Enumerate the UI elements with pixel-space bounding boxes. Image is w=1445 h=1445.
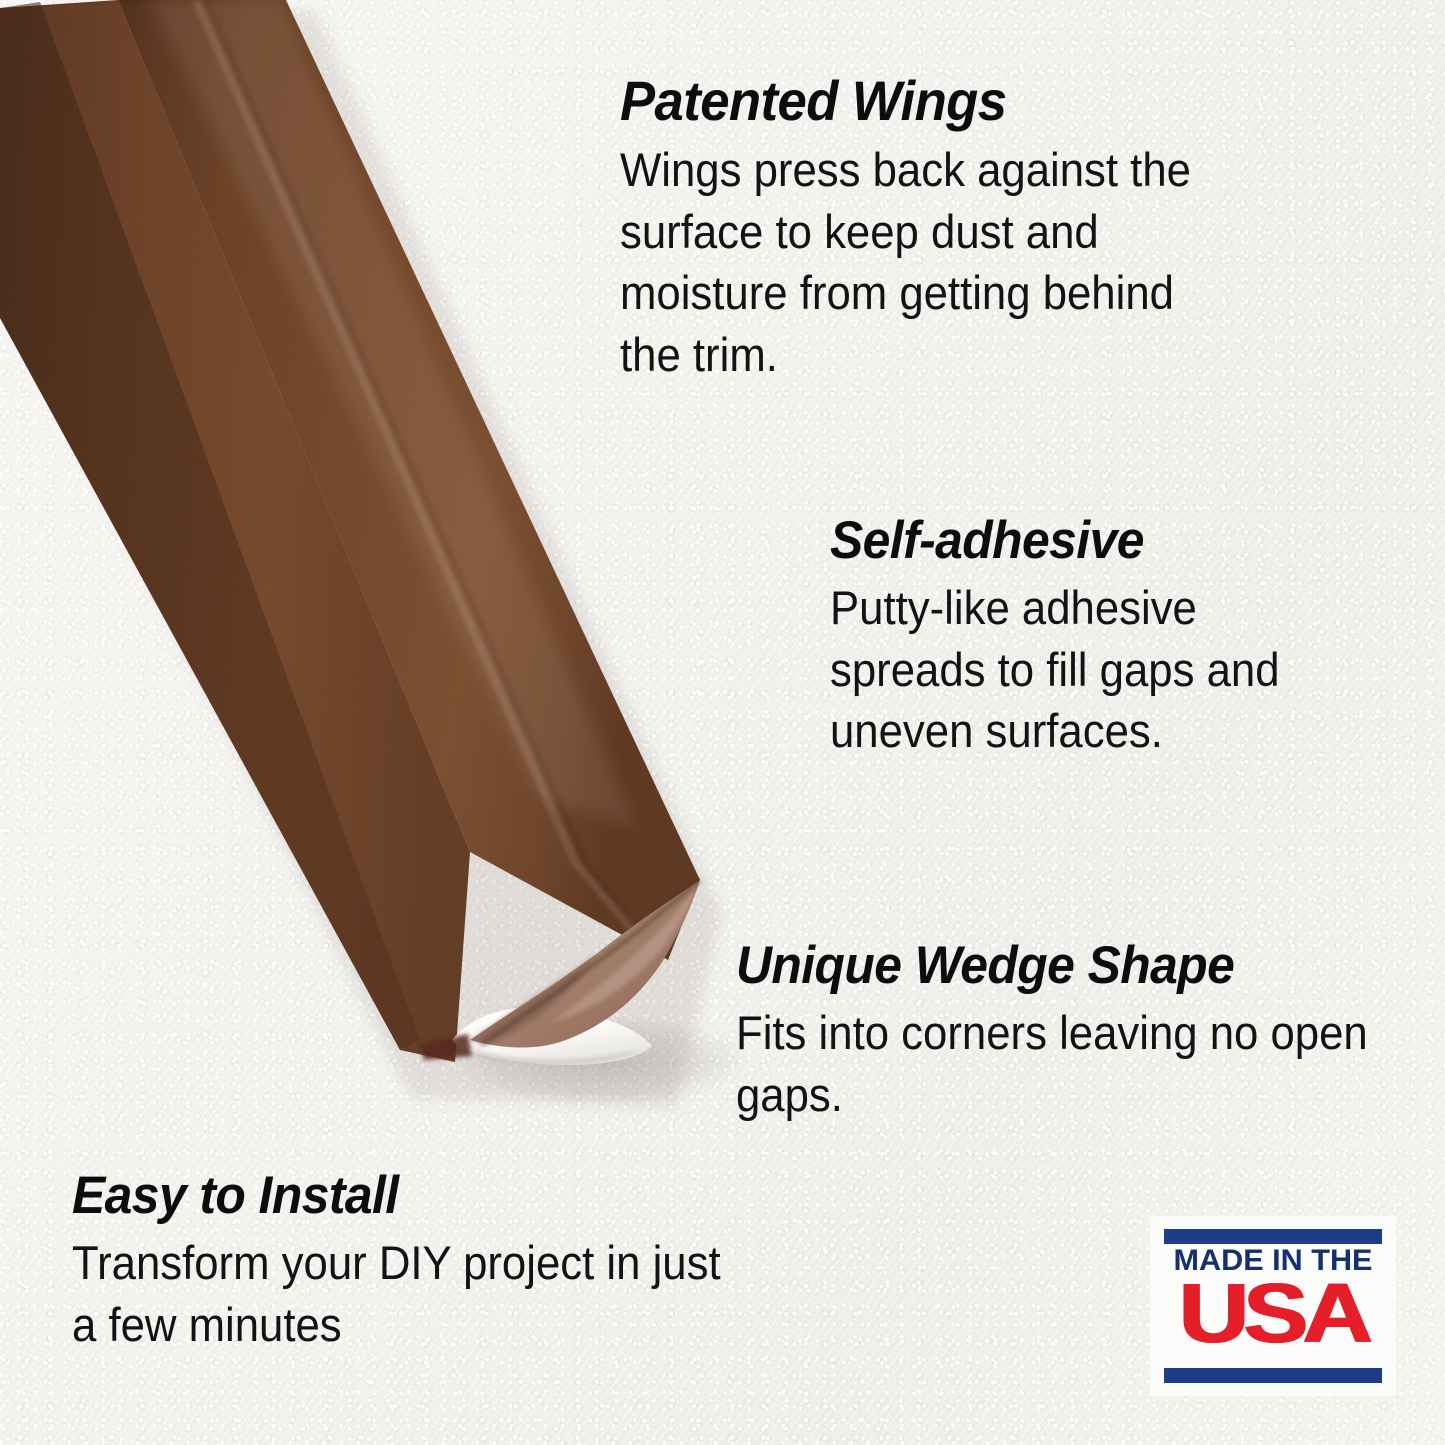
feature-block-easy-to-install: Easy to Install Transform your DIY proje… (72, 1165, 772, 1355)
feature-block-self-adhesive: Self-adhesive Putty-like adhesive spread… (830, 510, 1390, 762)
feature-block-patented-wings: Patented Wings Wings press back against … (620, 68, 1280, 385)
feature-body-unique-wedge-shape: Fits into corners leaving no open gaps. (736, 1002, 1368, 1125)
usa-badge-top-bar (1164, 1229, 1382, 1244)
usa-badge-line-usa: USA (1147, 1278, 1400, 1349)
feature-heading-easy-to-install: Easy to Install (72, 1165, 730, 1226)
feature-body-patented-wings: Wings press back against the surface to … (620, 139, 1234, 385)
feature-heading-patented-wings: Patented Wings (620, 68, 1240, 133)
usa-badge-bottom-bar (1164, 1368, 1382, 1383)
usa-badge-text-group: MADE IN THE USA (1164, 1246, 1382, 1366)
feature-body-self-adhesive: Putty-like adhesive spreads to fill gaps… (830, 577, 1351, 762)
infographic-canvas: Patented Wings Wings press back against … (0, 0, 1445, 1445)
feature-heading-self-adhesive: Self-adhesive (830, 510, 1356, 571)
feature-block-unique-wedge-shape: Unique Wedge Shape Fits into corners lea… (736, 935, 1416, 1125)
feature-body-easy-to-install: Transform your DIY project in just a few… (72, 1232, 723, 1355)
made-in-usa-badge: MADE IN THE USA (1150, 1216, 1396, 1396)
feature-heading-unique-wedge-shape: Unique Wedge Shape (736, 935, 1375, 996)
